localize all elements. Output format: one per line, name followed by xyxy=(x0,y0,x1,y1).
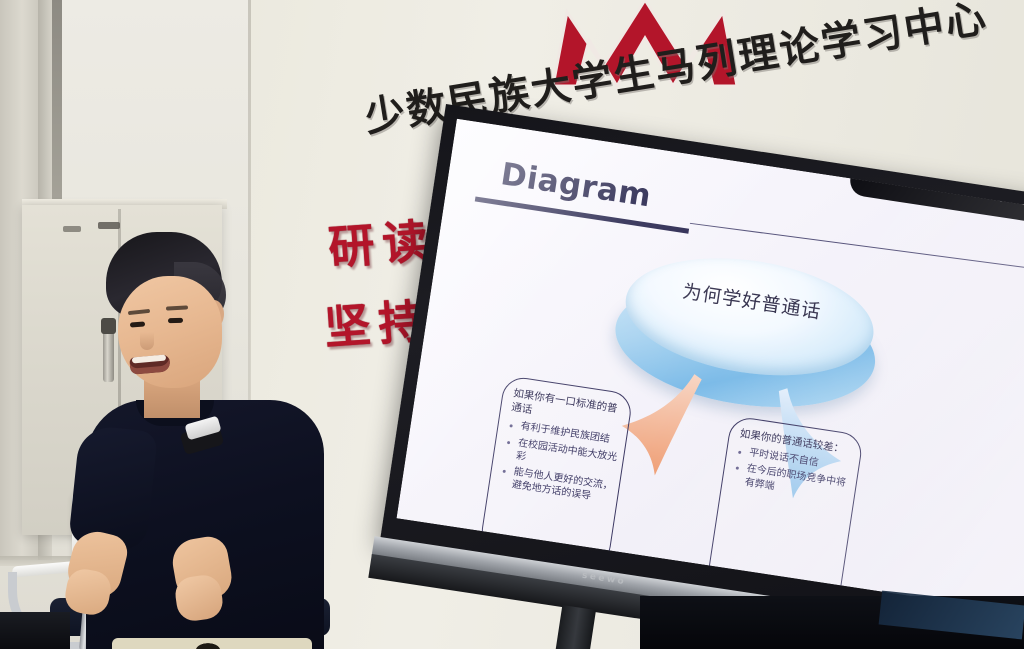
diagram-box-right: 如果你的普通话较差： 平时说话不自信 在今后的职场竞争中将有弊端 xyxy=(704,415,864,613)
interactive-display[interactable]: Company Logo Diagram 为何学好普通话 xyxy=(371,104,1024,649)
presenter-eye-right xyxy=(168,318,183,324)
presentation-photo-scene: 少数民族大学生马列理论学习中心 研读经 坚持实 Company Logo Dia… xyxy=(0,0,1024,649)
presenter-nose xyxy=(140,332,154,350)
foreground-left-shadow xyxy=(0,612,70,649)
camouflage-pattern xyxy=(112,638,312,649)
diagram-box-left: 如果你有一口标准的普通话 有利于维护民族团结 在校园活动中能大放光彩 能与他人更… xyxy=(479,375,634,568)
presenter-eye-left xyxy=(130,321,145,327)
powerpoint-slide: Company Logo Diagram 为何学好普通话 xyxy=(396,119,1024,613)
door-frame-shadow xyxy=(52,0,62,200)
presenter-sleeve xyxy=(68,424,158,551)
display-panel: Company Logo Diagram 为何学好普通话 xyxy=(396,119,1024,613)
cabinet-lock-icon xyxy=(98,222,120,229)
presenter: 3 xyxy=(78,232,328,649)
presenter-camo-shorts xyxy=(112,638,312,649)
